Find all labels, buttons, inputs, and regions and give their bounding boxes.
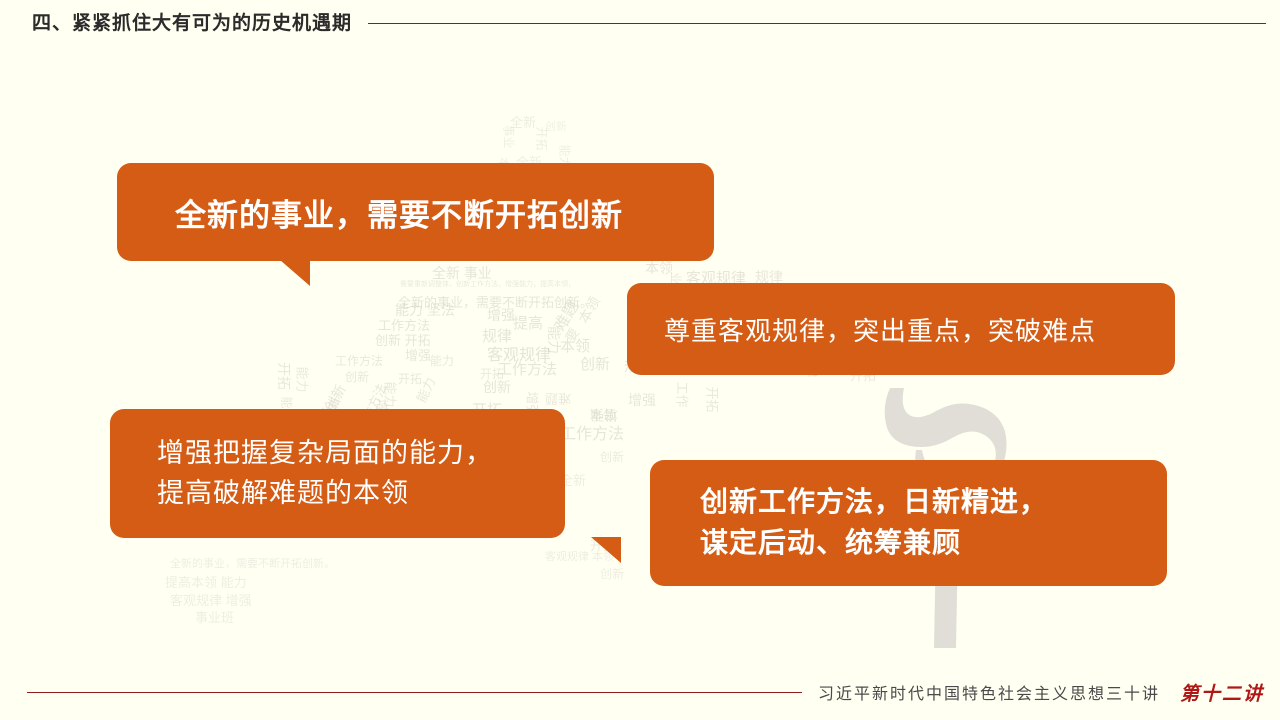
wordcloud-word: 增强 — [628, 390, 656, 410]
footer-lecture-number: 第十二讲 — [1180, 679, 1264, 706]
callout-bubble-3[interactable]: 增强把握复杂局面的能力， 提高破解难题的本领 — [110, 409, 565, 538]
header-divider-line — [368, 23, 1266, 24]
wordcloud-word: 创新 开拓 — [375, 330, 431, 349]
callout-text-1: 全新的事业，需要不断开拓创新 — [117, 190, 714, 235]
wordcloud-word: 能力 坚法 — [395, 300, 455, 320]
wordcloud-word: 创新 — [600, 448, 624, 465]
wordcloud-word: 工作方法 — [378, 315, 430, 334]
wordcloud-word: 能力 — [544, 326, 564, 354]
slide-root: 全新事业开拓创新全新能力本领规律全新 事业需要重新调整体，创新工作方法，增强能力… — [0, 0, 1280, 720]
callout-tail-3 — [591, 537, 621, 563]
wordcloud-word: 工作 — [674, 381, 693, 407]
wordcloud-word: 增强 — [590, 405, 618, 425]
wordcloud-word: 规律 — [482, 325, 512, 346]
wordcloud-word: 能力 — [411, 374, 439, 406]
wordcloud-word: 本领 — [560, 335, 590, 356]
wordcloud-word: 全新 事业 — [432, 263, 492, 283]
wordcloud-word: 增强 — [405, 345, 431, 364]
wordcloud-word: 本领 — [645, 258, 673, 278]
wordcloud-word: 客观规律 — [487, 341, 551, 365]
wordcloud-word: 开拓 — [534, 126, 551, 150]
wordcloud-word: 开拓 — [480, 365, 504, 382]
wordcloud-word: 创新 — [345, 368, 369, 385]
page-title: 四、紧紧抓住大有可为的历史机遇期 — [32, 14, 352, 33]
wordcloud-word: 全新 — [510, 112, 536, 131]
wordcloud-word: 创新 — [580, 353, 610, 374]
callout-bubble-1[interactable]: 全新的事业，需要不断开拓创新 — [117, 163, 714, 261]
footer-series-title: 习近平新时代中国特色社会主义思想三十讲 — [818, 680, 1160, 704]
slide-header: 四、紧紧抓住大有可为的历史机遇期 — [0, 0, 1280, 46]
wordcloud-word: 工作方法 — [335, 352, 383, 369]
callout-bubble-4[interactable]: 创新工作方法，日新精进， 谋定后动、统筹兼顾 — [650, 460, 1167, 586]
wordcloud-word: 客观规律 增强 — [170, 590, 252, 609]
callout-text-4: 创新工作方法，日新精进， 谋定后动、统筹兼顾 — [650, 482, 1167, 563]
wordcloud-word: 创新 — [483, 377, 511, 397]
wordcloud-word: 提高本领 能力 — [165, 572, 247, 591]
callout-tail-1 — [280, 260, 310, 286]
wordcloud-word: 能力 — [382, 381, 401, 407]
wordcloud-word: 难题 — [547, 295, 584, 335]
slide-footer: 习近平新时代中国特色社会主义思想三十讲 第十二讲 — [0, 672, 1280, 712]
wordcloud-word: 提高 — [513, 312, 543, 333]
wordcloud-word: 事业 — [501, 124, 518, 148]
footer-divider-line — [27, 692, 802, 693]
wordcloud-word: 增强 — [487, 305, 515, 325]
wordcloud-word: 全新的事业，需要不断开拓创新。 — [170, 555, 335, 571]
wordcloud-word: 全新的事业，需要不断开拓创新。 — [398, 292, 593, 311]
wordcloud-word: 需要重新调整体，创新工作方法，增强能力，提高本领， — [400, 279, 575, 289]
wordcloud-word: 工作方法 — [560, 420, 624, 444]
callout-text-3: 增强把握复杂局面的能力， 提高破解难题的本领 — [110, 434, 565, 512]
wordcloud-word: 本领 — [590, 405, 616, 424]
wordcloud-word: 开拓 — [398, 370, 422, 387]
callout-bubble-2[interactable]: 尊重客观规律，突出重点，突破难点 — [627, 283, 1175, 375]
wordcloud-word: 能力 — [294, 366, 313, 392]
wordcloud-word: 能力 — [430, 352, 454, 369]
callout-text-2: 尊重客观规律，突出重点，突破难点 — [627, 311, 1175, 348]
wordcloud-word: 开拓 — [704, 386, 723, 412]
wordcloud-word: 难题 — [545, 390, 571, 409]
wordcloud-word: 事业班 — [195, 607, 234, 626]
wordcloud-word: 工作方法 — [497, 358, 557, 379]
wordcloud-word: 本领 — [573, 293, 604, 327]
wordcloud-word: 开拓 — [274, 362, 294, 390]
wordcloud-word: 创新 — [545, 118, 567, 134]
wordcloud-word: 创新 — [600, 565, 624, 582]
wordcloud-word: 要 — [560, 324, 583, 345]
